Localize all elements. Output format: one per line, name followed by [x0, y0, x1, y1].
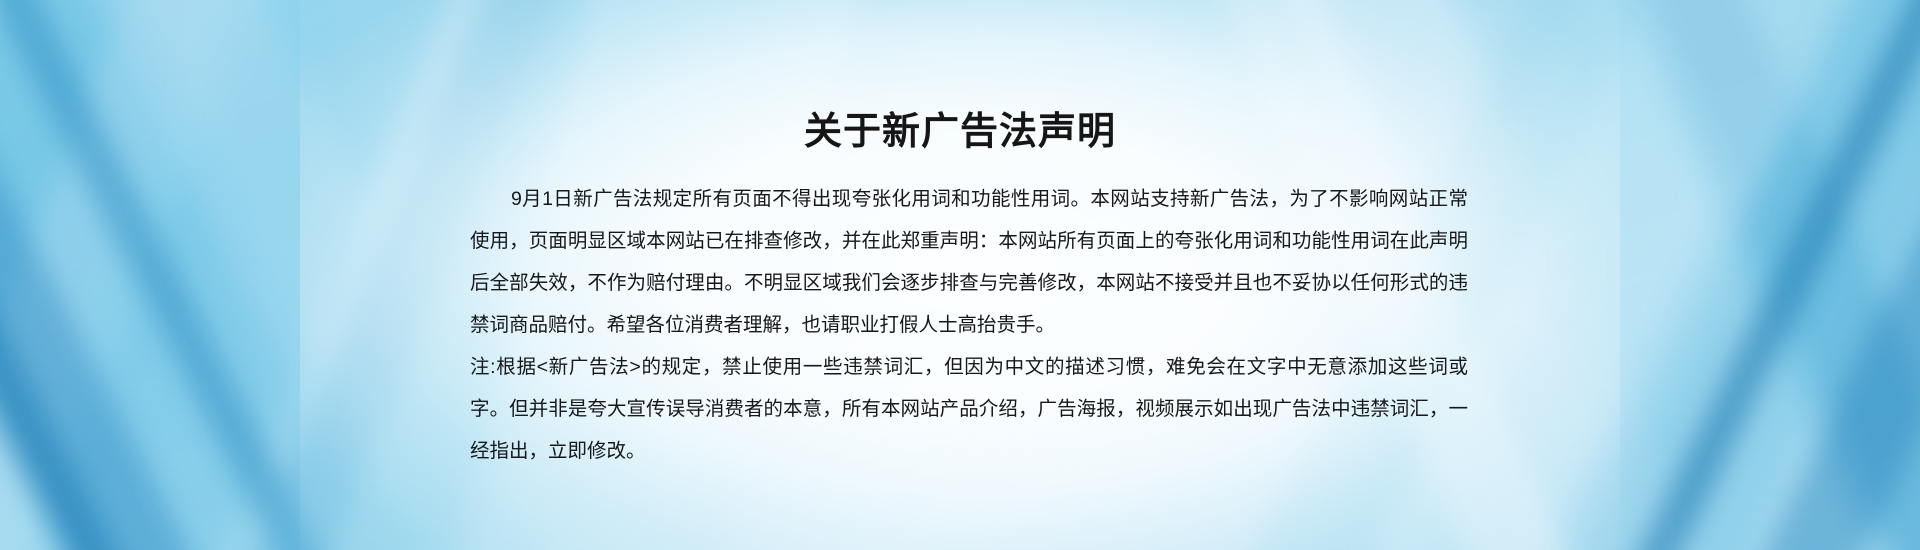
statement-body: 9月1日新广告法规定所有页面不得出现夸张化用词和功能性用词。本网站支持新广告法，… — [470, 178, 1468, 472]
statement-paragraph-main: 9月1日新广告法规定所有页面不得出现夸张化用词和功能性用词。本网站支持新广告法，… — [470, 178, 1468, 346]
statement-paragraph-note: 注:根据<新广告法>的规定，禁止使用一些违禁词汇，但因为中文的描述习惯，难免会在… — [470, 346, 1468, 472]
advertising-law-statement-banner: 关于新广告法声明 9月1日新广告法规定所有页面不得出现夸张化用词和功能性用词。本… — [0, 0, 1920, 550]
statement-content: 关于新广告法声明 9月1日新广告法规定所有页面不得出现夸张化用词和功能性用词。本… — [0, 0, 1920, 550]
page-title: 关于新广告法声明 — [0, 109, 1920, 157]
